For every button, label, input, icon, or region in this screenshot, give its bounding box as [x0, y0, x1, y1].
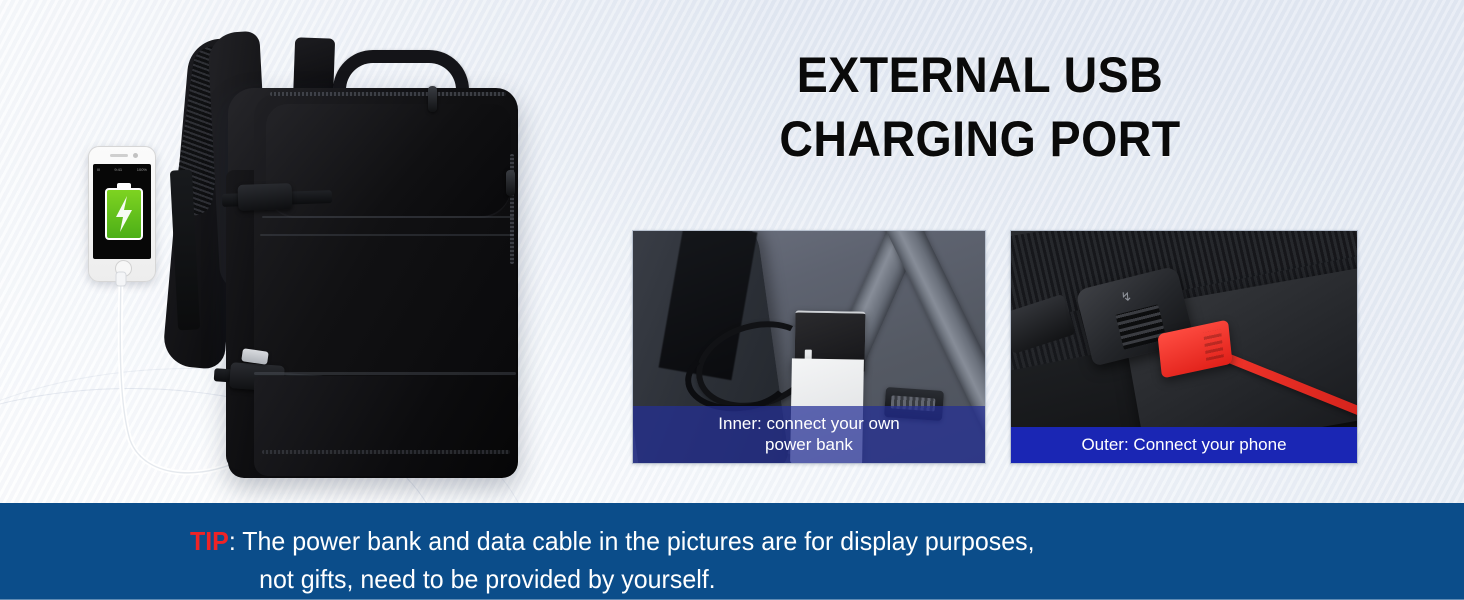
promo-banner: EXTERNAL USB CHARGING PORT lll 9:41 100% [0, 0, 1464, 600]
backpack-bottom-trim [254, 372, 516, 375]
headline-line-1: EXTERNAL USB [797, 47, 1163, 103]
phone-camera-icon [133, 153, 138, 158]
headline-line-2: CHARGING PORT [627, 114, 1334, 164]
tip-text: TIP: The power bank and data cable in th… [190, 523, 1265, 598]
photo-inner-caption-line-2: power bank [765, 435, 853, 454]
smartphone: lll 9:41 100% [88, 146, 156, 282]
backpack-buckle-upper [238, 183, 293, 211]
status-time-label: 9:41 [114, 168, 122, 172]
backpack-zipper-pull-top [428, 86, 437, 112]
tip-bar: TIP: The power bank and data cable in th… [0, 503, 1464, 600]
backpack-zipper-pull-side [506, 170, 515, 196]
photo-outer-caption: Outer: Connect your phone [1011, 427, 1357, 463]
battery-charging-icon [105, 188, 143, 240]
status-battery-label: 100% [137, 168, 147, 172]
photo-outer: ↯ Outer: Connect your phone [1010, 230, 1358, 464]
phone-speaker-icon [110, 154, 128, 157]
phone-home-button-icon [115, 260, 132, 277]
backpack-zipper-bottom [262, 450, 510, 454]
backpack-seam-mid [260, 234, 514, 236]
photo-inner: Inner: connect your own power bank [632, 230, 986, 464]
phone-status-bar: lll 9:41 100% [93, 166, 151, 173]
backpack-seam-upper [262, 216, 514, 218]
lightning-bolt-icon [107, 190, 141, 238]
status-signal-label: lll [97, 168, 100, 172]
backpack-zipper-top [270, 92, 506, 96]
product-photo: lll 9:41 100% [0, 0, 620, 503]
photo-inner-caption-line-1: Inner: connect your own [718, 414, 899, 433]
headline: EXTERNAL USB CHARGING PORT [627, 50, 1334, 164]
photo-outer-caption-line-1: Outer: Connect your phone [1081, 435, 1286, 454]
tip-keyword: TIP [190, 526, 229, 556]
tip-colon: : [229, 526, 236, 556]
backpack [170, 20, 570, 503]
backpack-bottom-compartment [254, 376, 516, 476]
phone-screen: lll 9:41 100% [93, 164, 151, 259]
photo-inner-caption: Inner: connect your own power bank [633, 406, 985, 464]
tip-line-2: not gifts, need to be provided by yourse… [190, 561, 1265, 599]
tip-line-1: The power bank and data cable in the pic… [242, 526, 1034, 556]
battery-cap [117, 183, 131, 188]
